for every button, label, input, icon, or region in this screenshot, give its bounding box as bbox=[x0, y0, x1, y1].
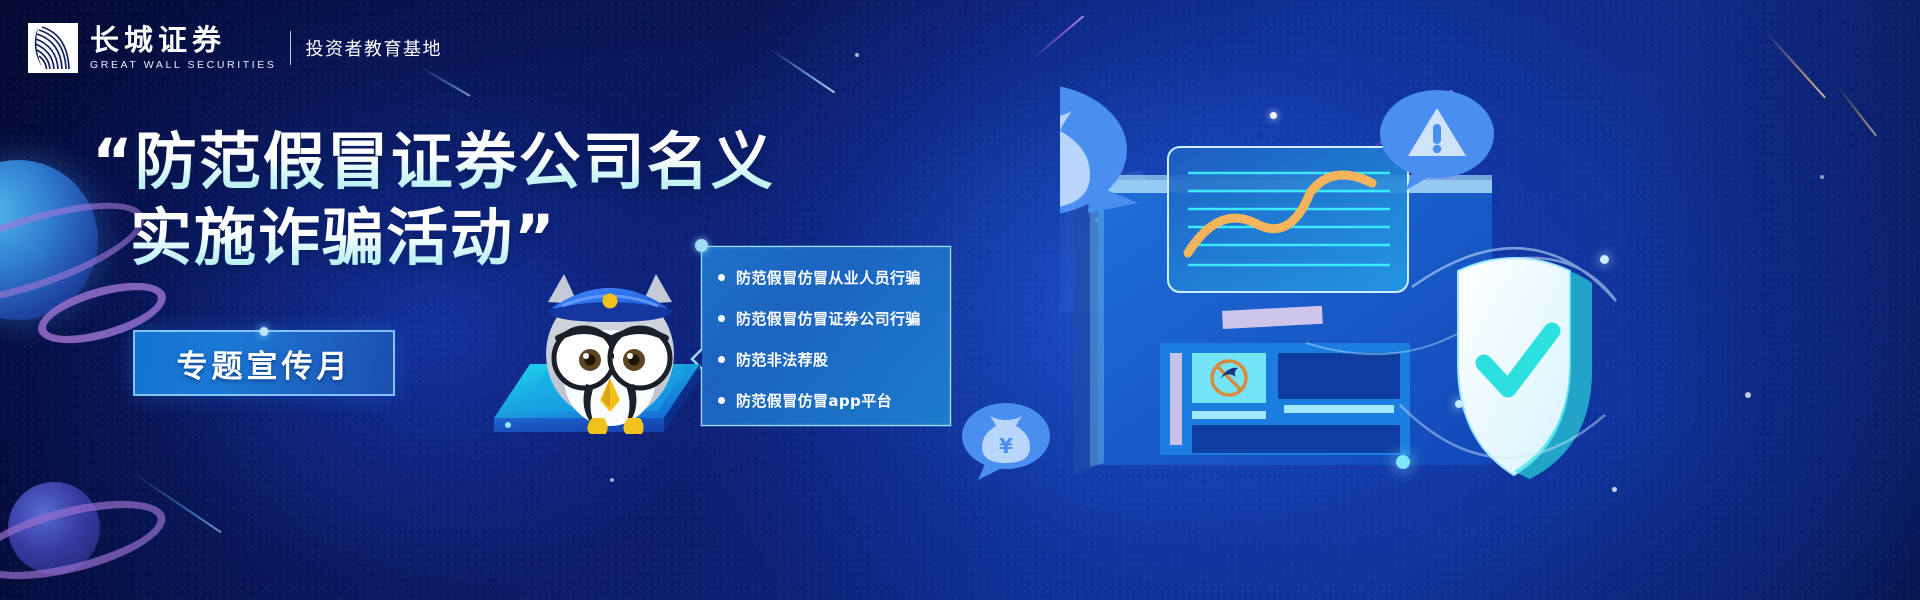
promo-banner: 长城证券 GREAT WALL SECURITIES 投资者教育基地 “防范假冒… bbox=[0, 0, 1920, 600]
list-item: 防范假冒仿冒app平台 bbox=[718, 380, 944, 421]
list-item: 防范非法荐股 bbox=[718, 339, 944, 380]
cta-accent-dot-icon bbox=[260, 327, 269, 336]
great-wall-logo-icon bbox=[28, 23, 78, 73]
list-item: 防范假冒仿冒从业人员行骗 bbox=[718, 257, 944, 298]
list-item: 防范假冒仿冒证券公司行骗 bbox=[718, 298, 944, 339]
illustration-group: ¥ bbox=[1060, 75, 1620, 525]
bullet-label: 防范非法荐股 bbox=[736, 349, 828, 370]
meteor-icon bbox=[1837, 86, 1877, 136]
logo-divider bbox=[290, 31, 291, 65]
money-bag-bubble-small-icon: ¥ bbox=[960, 400, 1052, 480]
content-panels-icon bbox=[1160, 343, 1410, 455]
brand-name-en: GREAT WALL SECURITIES bbox=[90, 59, 276, 71]
meteor-icon bbox=[1029, 15, 1084, 62]
brand-logo: 长城证券 GREAT WALL SECURITIES 投资者教育基地 bbox=[28, 22, 442, 74]
headline-line-1: “防范假冒证券公司名义 bbox=[92, 124, 852, 200]
dot-texture-overlay bbox=[0, 0, 1920, 600]
campaign-button[interactable]: 专题宣传月 bbox=[133, 330, 395, 396]
dashboard-board-icon bbox=[1074, 147, 1492, 475]
glow-dot-icon bbox=[1455, 400, 1463, 408]
planet-ring-icon bbox=[0, 468, 140, 558]
bullet-list: 防范假冒仿冒从业人员行骗 防范假冒仿冒证券公司行骗 防范非法荐股 防范假冒仿冒a… bbox=[718, 257, 944, 421]
bullet-label: 防范假冒仿冒从业人员行骗 bbox=[736, 267, 921, 288]
bullet-label: 防范假冒仿冒app平台 bbox=[736, 390, 892, 411]
meteor-icon bbox=[769, 48, 835, 93]
warning-exclamation-bubble-icon bbox=[1378, 86, 1496, 190]
meteor-icon bbox=[1764, 30, 1826, 98]
tablet-chart-icon bbox=[1168, 147, 1408, 292]
star-icon bbox=[610, 478, 614, 482]
campaign-button-label: 专题宣传月 bbox=[177, 341, 352, 386]
bullet-panel: 防范假冒仿冒从业人员行骗 防范假冒仿冒证券公司行骗 防范非法荐股 防范假冒仿冒a… bbox=[700, 245, 952, 427]
star-icon bbox=[855, 53, 859, 57]
police-owl-mascot-icon bbox=[500, 250, 720, 450]
star-icon bbox=[1745, 392, 1751, 398]
svg-text:¥: ¥ bbox=[999, 434, 1013, 458]
bullet-label: 防范假冒仿冒证券公司行骗 bbox=[736, 308, 921, 329]
brand-subtitle: 投资者教育基地 bbox=[305, 35, 442, 61]
star-icon bbox=[1820, 175, 1824, 179]
glow-dot-icon bbox=[1396, 455, 1410, 469]
brand-name-cn: 长城证券 bbox=[90, 25, 276, 55]
